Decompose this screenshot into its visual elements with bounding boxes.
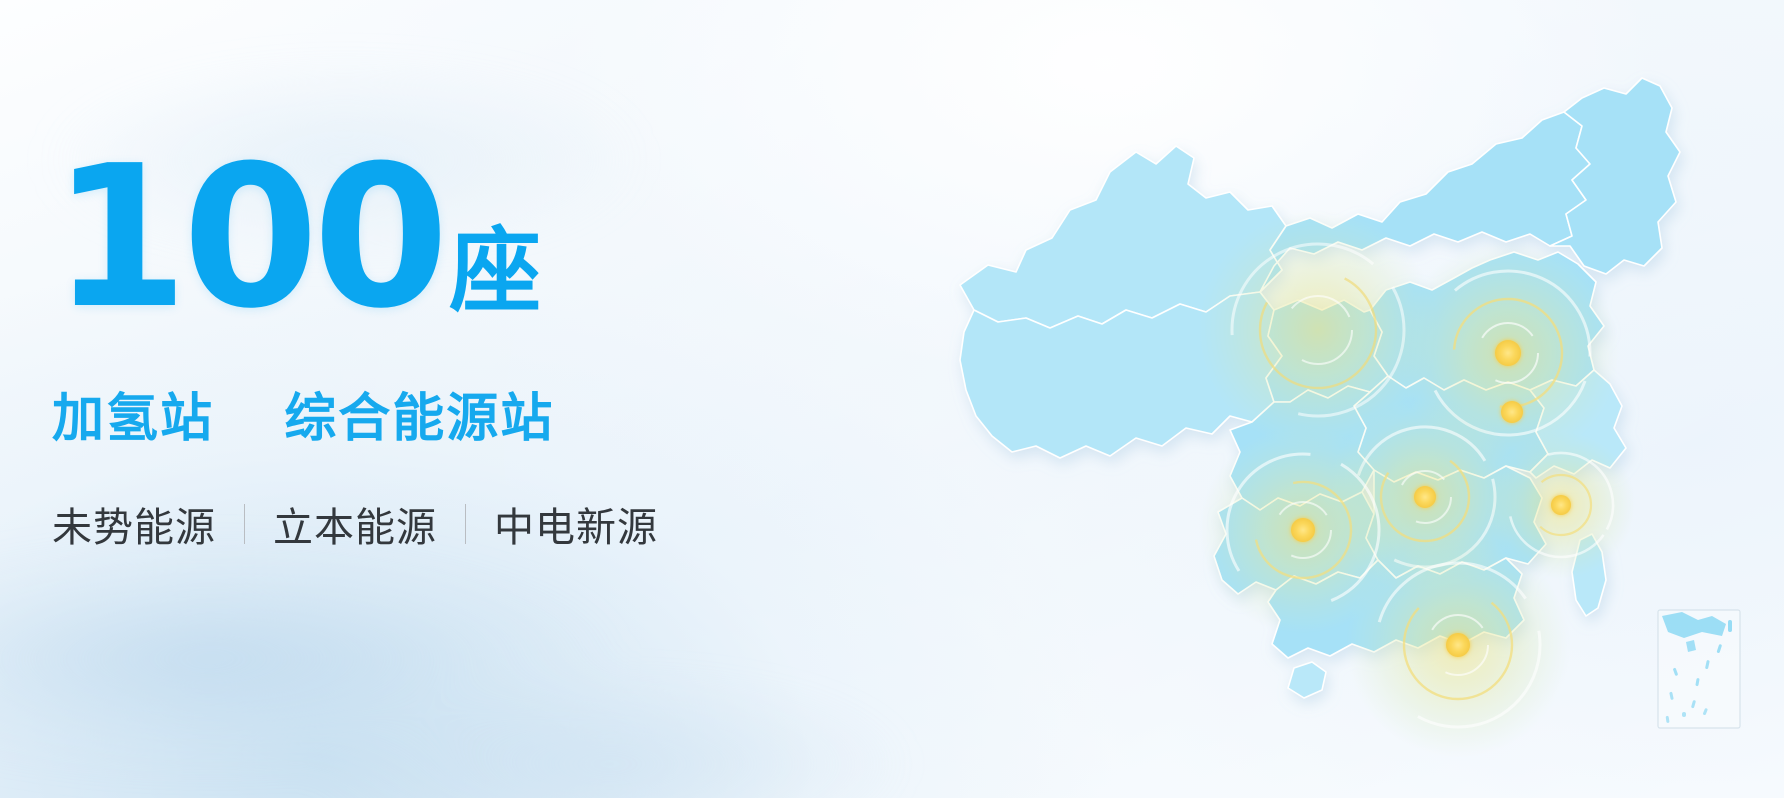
map-landmass (960, 78, 1680, 698)
headline-unit: 座 (449, 230, 541, 315)
province-gansu (1266, 300, 1388, 402)
subtitle-hydrogen-station: 加氢站 (52, 389, 214, 449)
brand-item-2: 中电新源 (494, 495, 658, 553)
island-taiwan (1572, 534, 1606, 616)
marker-jiangsu[interactable] (1551, 495, 1571, 515)
marker-shandong[interactable] (1501, 401, 1523, 423)
marker-sichuan[interactable] (1291, 518, 1315, 542)
headline-row: 100 座 (52, 148, 792, 328)
brand-divider-0 (244, 504, 245, 544)
subtitle-row: 加氢站 综合能源站 (52, 376, 792, 451)
south-china-sea-inset (1658, 610, 1740, 728)
china-coverage-map (930, 60, 1730, 760)
island-hainan (1288, 662, 1326, 698)
brand-item-0: 未势能源 (52, 495, 216, 553)
marker-guangdong[interactable] (1446, 633, 1470, 657)
province-north-china (1370, 252, 1604, 390)
headline-number: 100 (52, 148, 443, 328)
province-south-central (1366, 466, 1546, 578)
marker-henan[interactable] (1414, 486, 1436, 508)
brand-list: 未势能源 立本能源 中电新源 (52, 495, 792, 553)
headline-block: 100 座 加氢站 综合能源站 未势能源 立本能源 中电新源 (52, 148, 792, 553)
subtitle-integrated-energy-station: 综合能源站 (284, 389, 554, 449)
marker-beijing[interactable] (1495, 340, 1521, 366)
brand-item-1: 立本能源 (273, 495, 437, 553)
province-east-coast (1530, 370, 1626, 478)
province-central (1354, 376, 1548, 482)
brand-divider-1 (465, 504, 466, 544)
banner-stage: 100 座 加氢站 综合能源站 未势能源 立本能源 中电新源 (0, 0, 1784, 798)
